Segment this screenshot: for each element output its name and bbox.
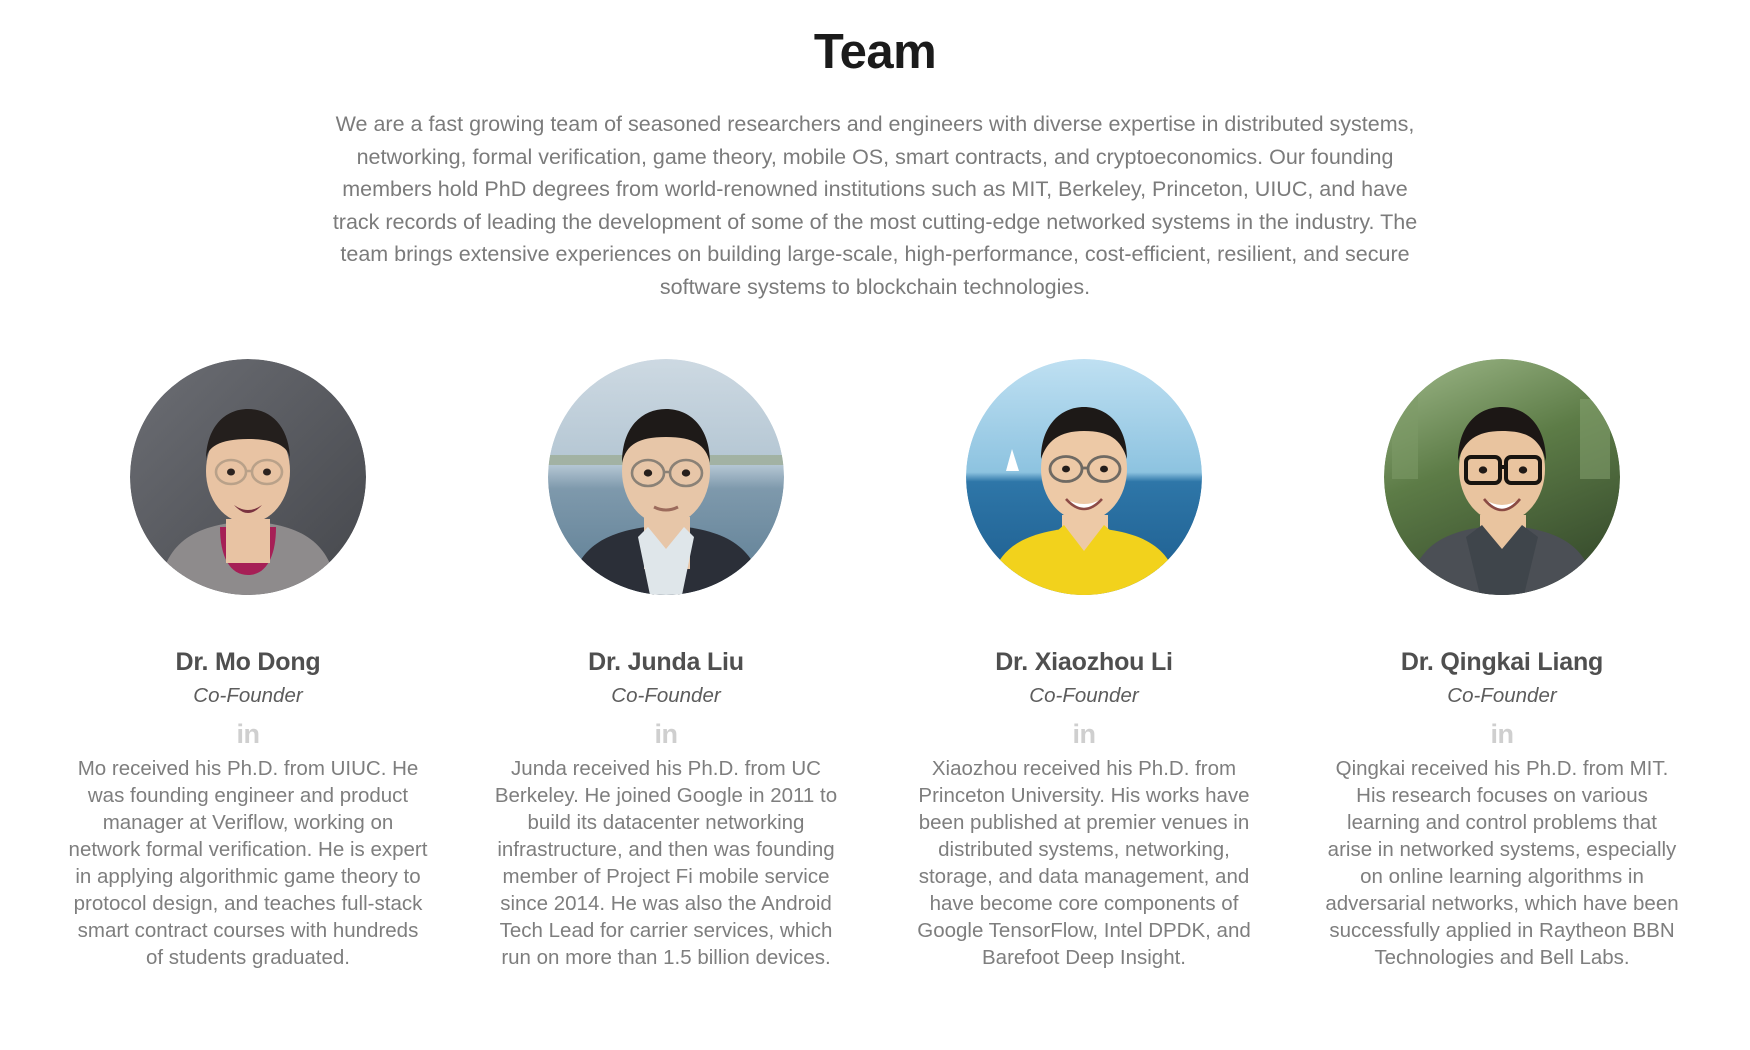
- linkedin-icon[interactable]: in: [1491, 721, 1514, 748]
- page-title: Team: [0, 0, 1750, 80]
- member-role: Co-Founder: [193, 684, 302, 709]
- team-member-card: Dr. Qingkai Liang Co-Founder in Qingkai …: [1314, 359, 1690, 971]
- member-bio: Xiaozhou received his Ph.D. from Princet…: [904, 755, 1264, 971]
- team-member-card: Dr. Xiaozhou Li Co-Founder in Xiaozhou r…: [896, 359, 1272, 971]
- avatar-mo-dong: [130, 359, 366, 595]
- member-name: Dr. Junda Liu: [588, 647, 744, 677]
- linkedin-icon[interactable]: in: [237, 721, 260, 748]
- member-name: Dr. Xiaozhou Li: [995, 647, 1173, 677]
- member-name: Dr. Qingkai Liang: [1401, 647, 1603, 677]
- avatar-junda-liu: [548, 359, 784, 595]
- team-page: Team We are a fast growing team of seaso…: [0, 0, 1750, 1050]
- member-bio: Qingkai received his Ph.D. from MIT. His…: [1322, 755, 1682, 971]
- team-member-card: Dr. Mo Dong Co-Founder in Mo received hi…: [60, 359, 436, 971]
- team-members-grid: Dr. Mo Dong Co-Founder in Mo received hi…: [60, 359, 1690, 971]
- member-bio: Junda received his Ph.D. from UC Berkele…: [486, 755, 846, 971]
- avatar-xiaozhou-li: [966, 359, 1202, 595]
- linkedin-icon[interactable]: in: [655, 721, 678, 748]
- member-role: Co-Founder: [1029, 684, 1138, 709]
- team-member-card: Dr. Junda Liu Co-Founder in Junda receiv…: [478, 359, 854, 971]
- avatar-qingkai-liang: [1384, 359, 1620, 595]
- member-role: Co-Founder: [1447, 684, 1556, 709]
- team-intro-paragraph: We are a fast growing team of seasoned r…: [328, 108, 1423, 303]
- member-name: Dr. Mo Dong: [175, 647, 320, 677]
- member-role: Co-Founder: [611, 684, 720, 709]
- member-bio: Mo received his Ph.D. from UIUC. He was …: [68, 755, 428, 971]
- linkedin-icon[interactable]: in: [1073, 721, 1096, 748]
